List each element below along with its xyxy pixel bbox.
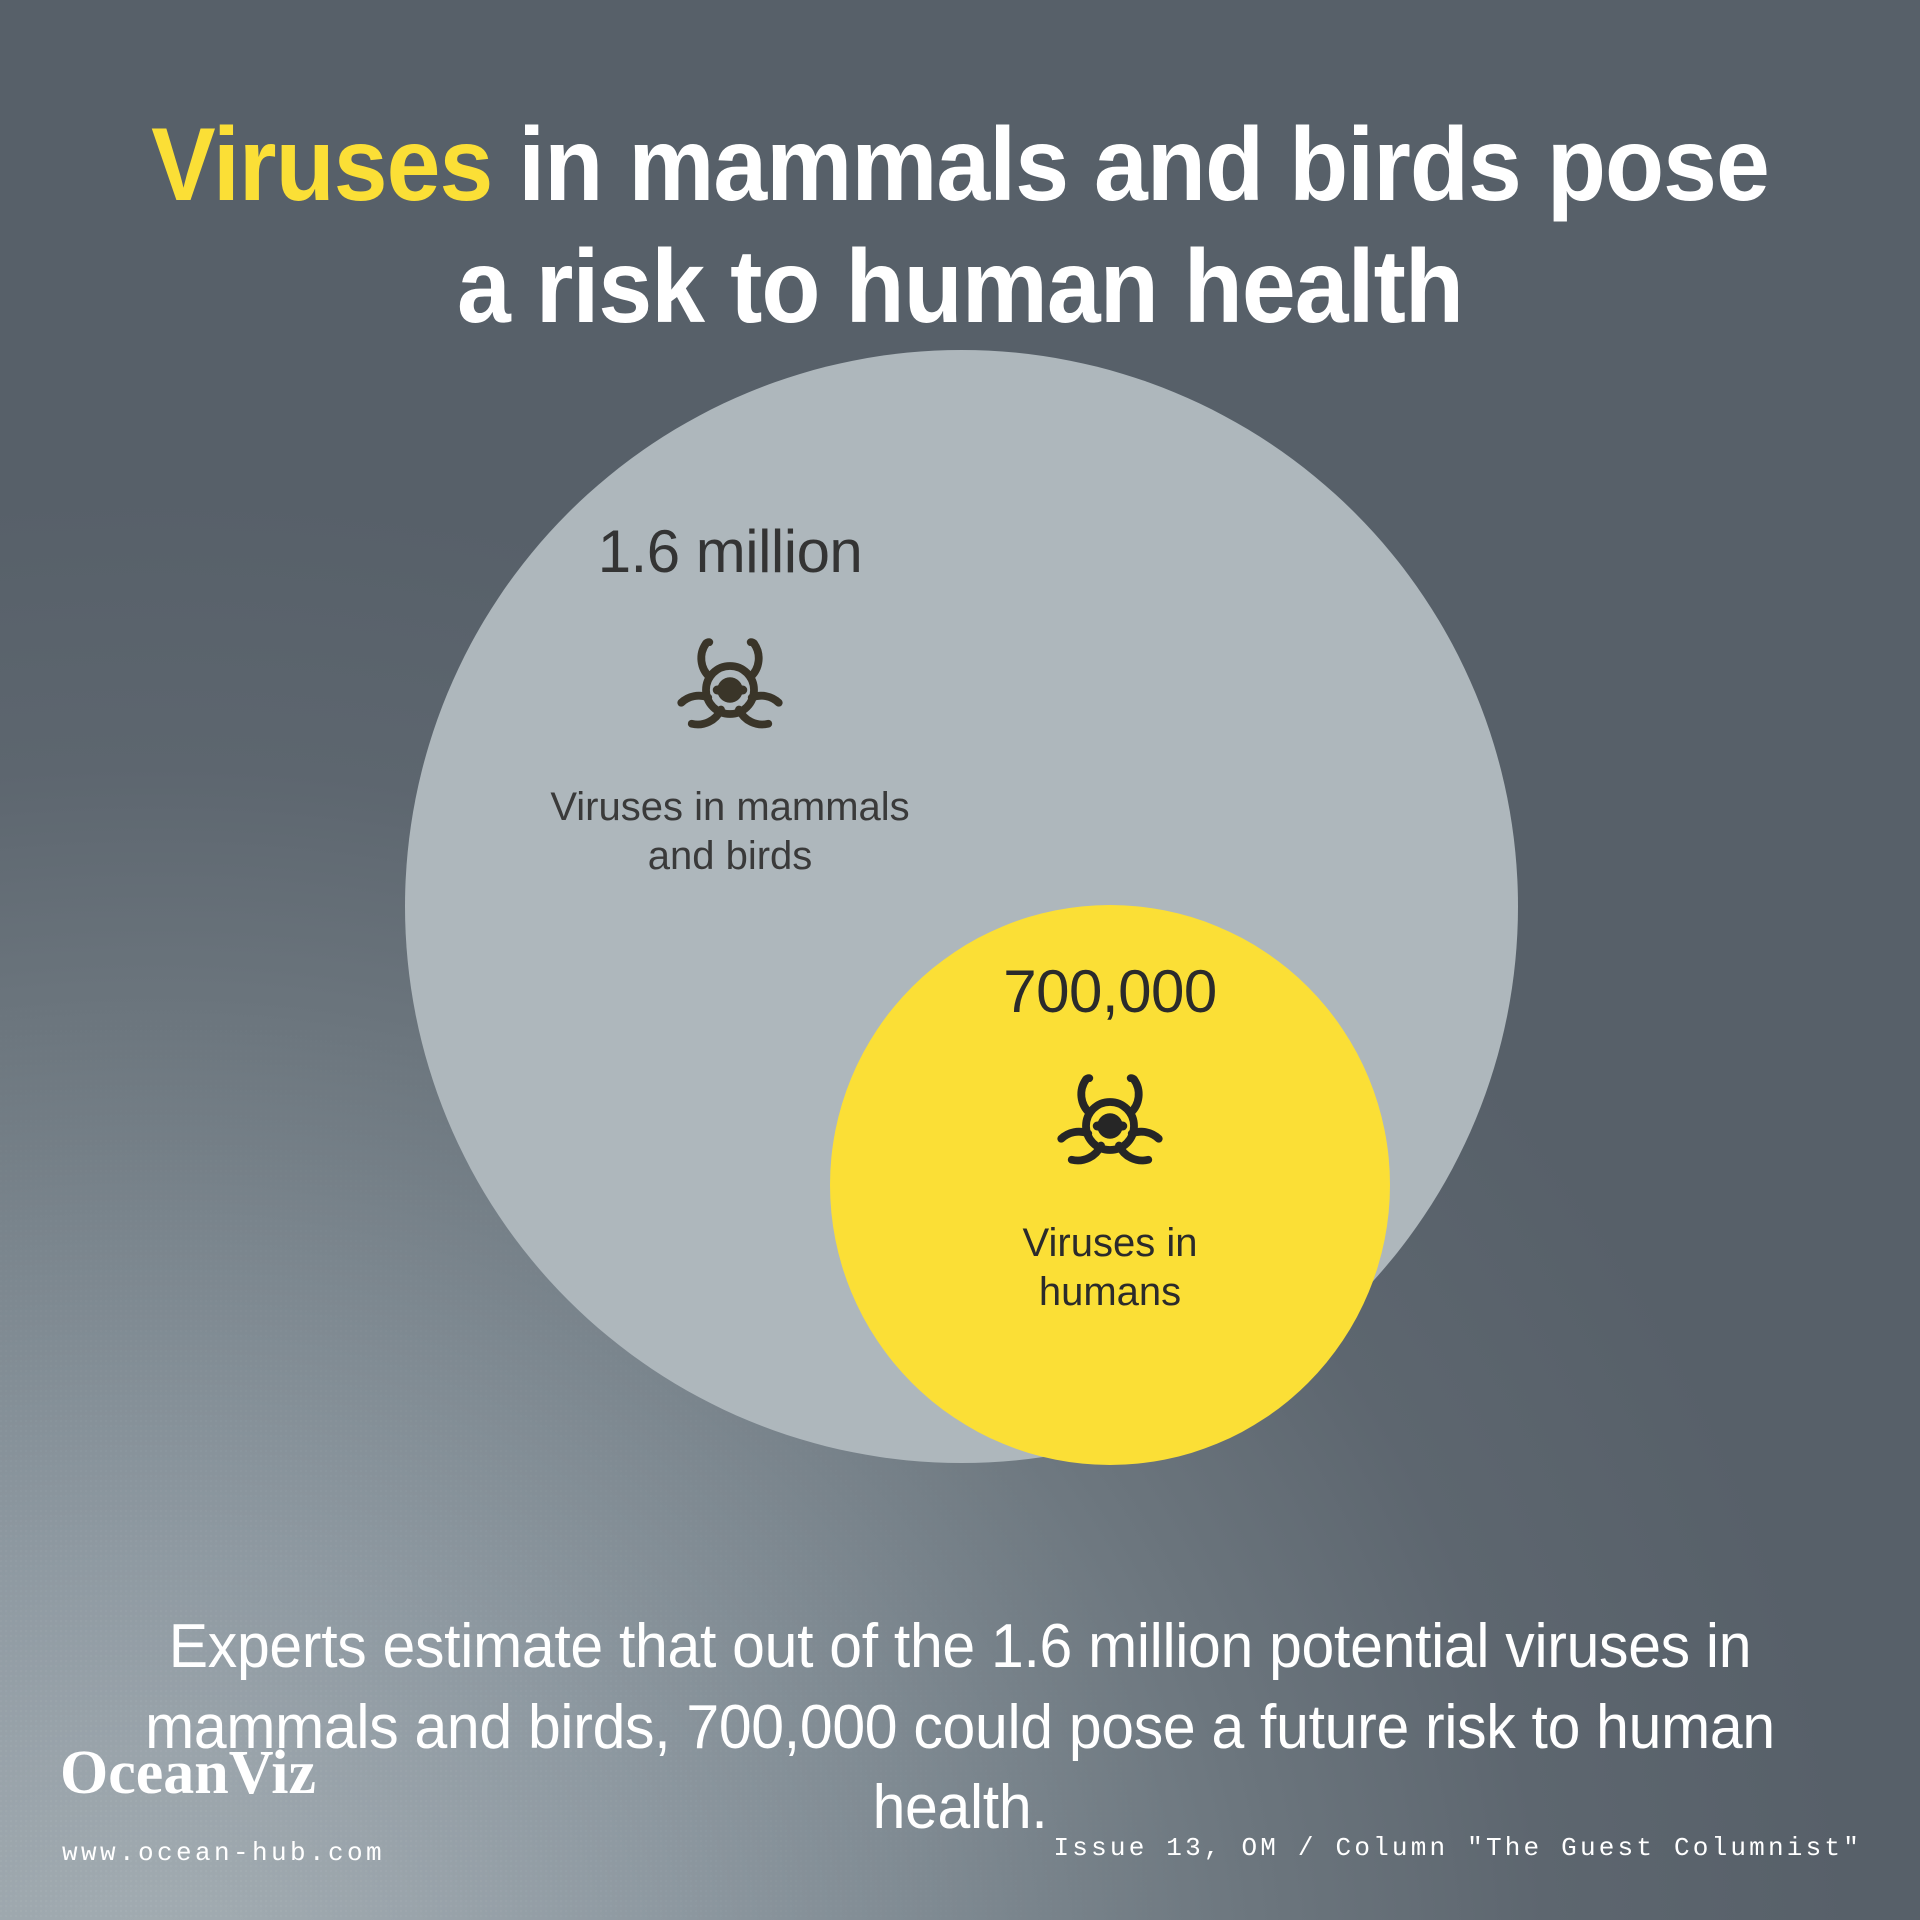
title-highlight: Viruses <box>151 107 492 223</box>
brand-url[interactable]: www.ocean-hub.com <box>62 1838 385 1868</box>
outer-caption-line1: Viruses in mammals <box>550 785 909 829</box>
inner-caption-line1: Viruses in <box>1023 1221 1198 1265</box>
title-line2: a risk to human health <box>457 229 1463 345</box>
inner-circle-value: 700,000 <box>870 960 1350 1023</box>
title-rest-line1: in mammals and birds pose <box>492 107 1769 223</box>
outer-circle-caption: Viruses in mammals and birds <box>460 783 1000 881</box>
outer-circle-value: 1.6 million <box>460 520 1000 583</box>
infographic-poster: Viruses in mammals and birds pose a risk… <box>0 0 1920 1920</box>
biohazard-icon <box>870 1045 1350 1195</box>
biohazard-icon <box>460 609 1000 759</box>
inner-circle-content: 700,000 <box>870 960 1350 1317</box>
inner-circle-caption: Viruses in humans <box>870 1219 1350 1317</box>
inner-caption-line2: humans <box>1039 1270 1181 1314</box>
body-paragraph: Experts estimate that out of the 1.6 mil… <box>134 1607 1787 1849</box>
page-title: Viruses in mammals and birds pose a risk… <box>67 104 1853 349</box>
outer-circle-content: 1.6 million <box>460 520 1000 881</box>
brand-logo: OceanViz <box>60 1738 316 1809</box>
issue-credit: Issue 13, OM / Column "The Guest Columni… <box>1053 1833 1862 1863</box>
outer-caption-line2: and birds <box>648 834 813 878</box>
